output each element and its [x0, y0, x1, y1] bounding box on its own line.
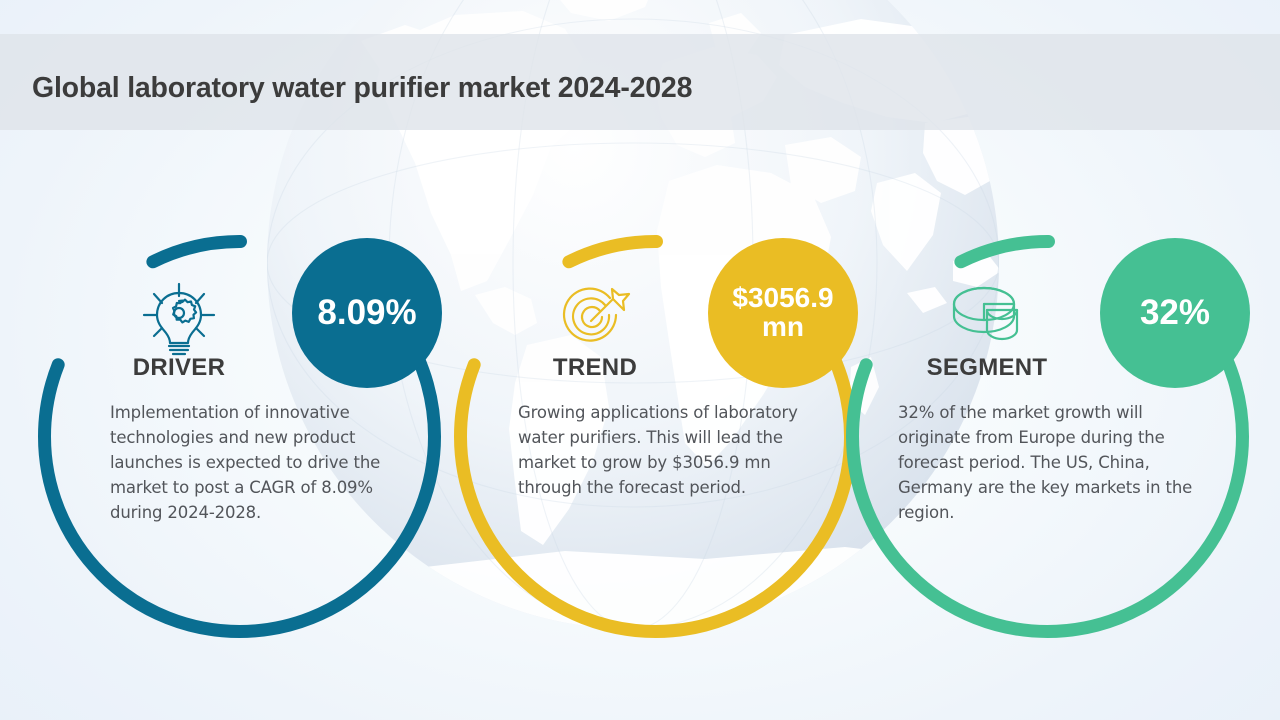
pie-chart-icon	[832, 282, 1142, 352]
badge-driver: 8.09%	[292, 238, 442, 388]
card-title-driver: DRIVER	[24, 354, 334, 382]
card-title-segment: SEGMENT	[832, 354, 1142, 382]
card-segment: SEGMENT 32% 32% of the market growth wil…	[832, 0, 1262, 720]
badge-segment: 32%	[1100, 238, 1250, 388]
card-trend: TREND $3056.9 mn Growing applications of…	[440, 0, 870, 720]
target-arrow-icon	[440, 282, 750, 354]
lightbulb-gear-icon	[24, 282, 334, 358]
card-body-segment: 32% of the market growth will originate …	[898, 400, 1208, 525]
card-body-driver: Implementation of innovative technologie…	[110, 400, 410, 525]
badge-value-driver: 8.09%	[311, 295, 422, 331]
card-driver: DRIVER 8.09% Implementation of innovativ…	[24, 0, 454, 720]
badge-value-segment: 32%	[1134, 295, 1216, 331]
card-body-trend: Growing applications of laboratory water…	[518, 400, 810, 500]
infographic-canvas: Global laboratory water purifier market …	[0, 0, 1280, 720]
card-title-trend: TREND	[440, 354, 750, 382]
